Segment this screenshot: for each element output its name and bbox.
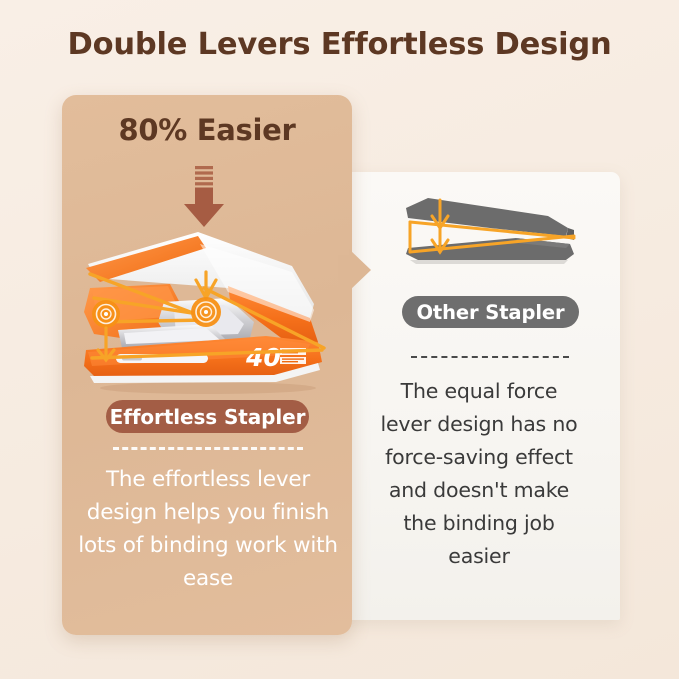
right-divider bbox=[411, 356, 569, 358]
page-title: Double Levers Effortless Design bbox=[0, 27, 679, 62]
down-arrow-striped-icon bbox=[182, 166, 226, 228]
easier-headline: 80% Easier bbox=[62, 113, 352, 147]
sheet-count-badge: 40 bbox=[245, 343, 281, 372]
right-body-text: The equal force lever design has no forc… bbox=[380, 375, 578, 573]
infographic-canvas: Double Levers Effortless Design 80% Easi… bbox=[0, 0, 679, 679]
effortless-stapler-label: Effortless Stapler bbox=[106, 400, 309, 433]
gray-stapler-icon bbox=[398, 190, 584, 268]
right-pointing-tab-icon bbox=[349, 249, 371, 291]
left-divider bbox=[113, 447, 303, 450]
orange-stapler-icon: 40 bbox=[78, 226, 336, 396]
other-stapler-label: Other Stapler bbox=[402, 296, 579, 328]
left-body-text: The effortless lever design helps you fi… bbox=[72, 463, 344, 595]
